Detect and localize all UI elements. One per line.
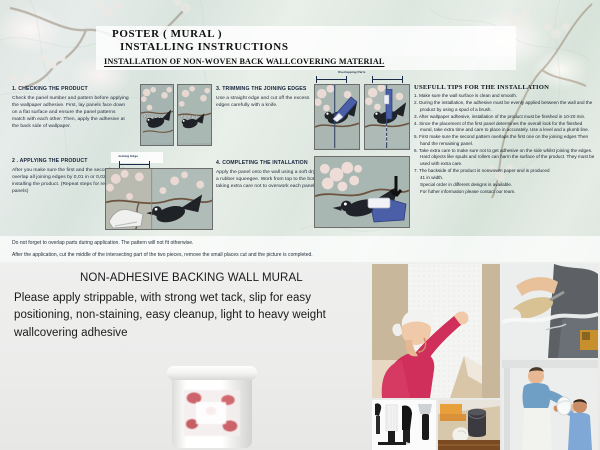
trimming-photo-right [364,84,410,150]
tips-list: 1. Make sure the wall surface is clean a… [414,93,596,196]
diagram-trimming-edges: Overlapping Parts [314,70,410,152]
photo-wallpaper-tools [372,400,436,450]
tip-item: 2. During the installation, the adhesive… [414,100,596,113]
page-title-line1: POSTER ( MURAL ) [112,28,222,40]
tips-title: USEFULL TIPS FOR THE INSTALLATION [414,84,596,91]
instruction-panel: POSTER ( MURAL ) INSTALLING INSTRUCTIONS… [0,0,600,262]
product-description: Please apply strippable, with strong wet… [14,290,366,342]
photo-woman-applying-wallpaper [372,264,500,398]
photo-paint-supplies [438,400,500,450]
tip-item: 3. After wallpaper adhesive, installatio… [414,114,596,121]
poster-instruction-sheet: POSTER ( MURAL ) INSTALLING INSTRUCTIONS… [0,0,600,450]
overlapping-parts-label: Overlapping Parts [338,70,366,74]
page-subtitle: INSTALLATION OF NON-WOVEN BACK WALLCOVER… [104,57,385,66]
step-3-body: Use a straight edge and cut off the exce… [216,95,324,109]
dim-tick-b [346,76,347,83]
woman-applying-wallpaper-illustration [372,264,500,398]
hand-applying-panel-icon [107,196,147,230]
wallpaper-panel-3: PANEL 3 [177,84,212,146]
panel-2-label: PANEL 2 [144,115,161,119]
tip-item: 6. Take extra care to make sure not to g… [414,148,596,168]
tip-subitem: For futher information please contact ou… [414,189,596,196]
diagram-completing-installation [314,156,410,228]
tip-subitem: 41 in width. [414,175,596,182]
dim-tick-right [149,161,150,168]
wallpaper-tools-illustration [372,400,436,450]
step-1-checking-the-product: 1. CHECKING THE PRODUCT Check the panel … [12,86,130,130]
tip-item: 5. First make sure the second pattern ov… [414,134,596,147]
dim-tick-d [402,76,403,83]
diagram-panels-face-down: PANEL 2 [140,84,212,146]
photo-roller-smoothing [502,264,598,358]
step-1-body: Check the panel number and pattern befor… [12,95,130,131]
bucket-label-card [196,402,226,424]
photo-collage [372,264,598,450]
page-title-line2: INSTALLING INSTRUCTIONS [120,41,289,53]
dim-line-right [372,79,402,80]
tip-item: 7. The backside of the product is nonwov… [414,168,596,175]
trimming-photo-left [314,84,360,150]
product-heading: NON-ADHESIVE BACKING WALL MURAL [80,272,303,284]
roller-smoothing-illustration [502,264,598,358]
knife-icon [331,93,359,123]
useful-tips-section: USEFULL TIPS FOR THE INSTALLATION 1. Mak… [414,84,596,196]
straight-edge-ruler-icon [379,89,399,123]
overlap-note: Do not forget to overlap parts during ap… [12,240,193,246]
tip-item: 1. Make sure the wall surface is clean a… [414,93,596,100]
application-note: After the application, cut the middle of… [12,252,313,258]
tip-item: 4. Since the placement of the first pane… [414,121,596,134]
dim-tick-c [372,76,373,83]
step-3-trimming-the-joining-edges: 3. TRIMMING THE JOINING EDGES Use a stra… [216,86,324,109]
adhesive-bucket-image [166,360,258,448]
joining-edge-label: Joining Edge [118,154,138,158]
dim-tick-left [119,161,120,168]
dim-line [119,164,149,165]
paint-supplies-illustration [438,400,500,450]
diagram-applying-product: Joining Edge [105,152,213,230]
wallpaper-panel-2: PANEL 2 [140,84,174,146]
photo-man-and-child [502,360,598,450]
bucket-lid [167,366,257,380]
dim-tick-a [316,76,317,83]
step-3-heading: 3. TRIMMING THE JOINING EDGES [216,86,324,92]
man-and-child-illustration [502,360,598,450]
dim-line-left [316,79,346,80]
step-1-heading: 1. CHECKING THE PRODUCT [12,86,130,92]
tip-subitem: Special order in different designs is av… [414,182,596,189]
gloved-hand-squeegee-icon [366,174,410,224]
panel-3-label: PANEL 3 [181,115,198,119]
